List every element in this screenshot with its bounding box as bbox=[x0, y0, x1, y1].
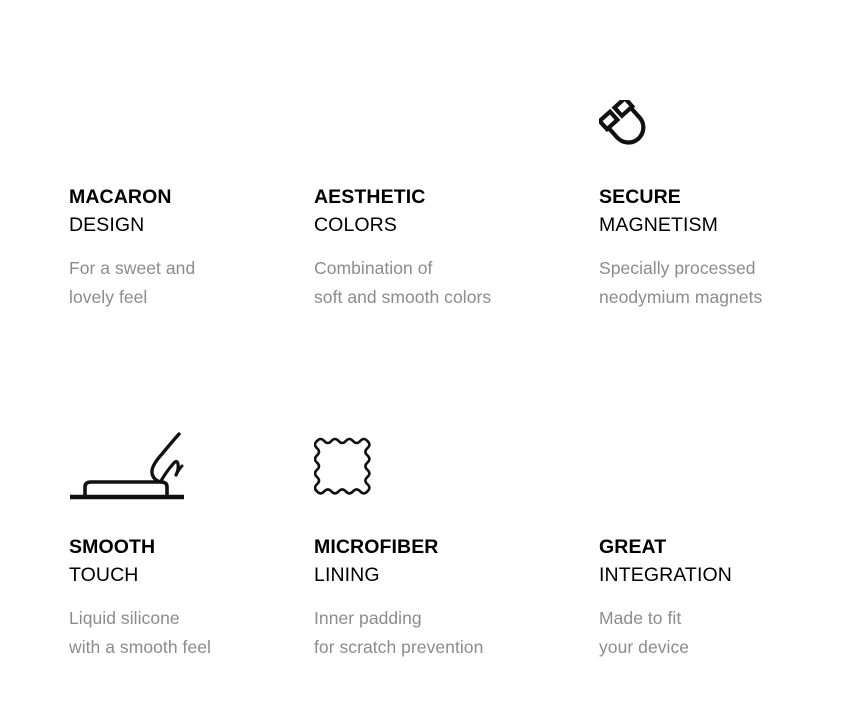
feature-icon-slot-empty bbox=[69, 40, 285, 152]
feature-description-line-1: Inner padding bbox=[314, 604, 570, 633]
feature-heading-primary: MACARON bbox=[69, 183, 285, 211]
feature-card-aesthetic-colors: AESTHETIC COLORS Combination of soft and… bbox=[285, 40, 570, 311]
feature-grid: MACARON DESIGN For a sweet and lovely fe… bbox=[0, 0, 860, 720]
feature-heading-secondary: MAGNETISM bbox=[599, 211, 855, 239]
feature-description-line-1: Liquid silicone bbox=[69, 604, 285, 633]
feature-description-line-1: Specially processed bbox=[599, 254, 855, 283]
feature-description-line-2: soft and smooth colors bbox=[314, 283, 570, 312]
feature-card-macaron-design: MACARON DESIGN For a sweet and lovely fe… bbox=[0, 40, 285, 311]
feature-description: Specially processed neodymium magnets bbox=[599, 254, 855, 311]
feature-heading-primary: SMOOTH bbox=[69, 533, 285, 561]
feature-description-line-2: for scratch prevention bbox=[314, 633, 570, 662]
feature-icon-slot bbox=[599, 40, 855, 152]
feature-card-smooth-touch: SMOOTH TOUCH Liquid silicone with a smoo… bbox=[0, 390, 285, 661]
feature-heading-secondary: LINING bbox=[314, 561, 570, 589]
feature-heading-primary: MICROFIBER bbox=[314, 533, 570, 561]
feature-heading: MACARON DESIGN bbox=[69, 183, 285, 239]
feature-row-2: SMOOTH TOUCH Liquid silicone with a smoo… bbox=[0, 390, 860, 661]
feature-heading: AESTHETIC COLORS bbox=[314, 183, 570, 239]
feature-heading-secondary: TOUCH bbox=[69, 561, 285, 589]
finger-touch-icon bbox=[69, 430, 185, 502]
feature-heading-secondary: COLORS bbox=[314, 211, 570, 239]
feature-description: Made to fit your device bbox=[599, 604, 855, 661]
feature-heading: MICROFIBER LINING bbox=[314, 533, 570, 589]
feature-description: Liquid silicone with a smooth feel bbox=[69, 604, 285, 661]
feature-heading-primary: GREAT bbox=[599, 533, 855, 561]
feature-icon-slot-empty bbox=[314, 40, 570, 152]
feature-description-line-1: For a sweet and bbox=[69, 254, 285, 283]
feature-description-line-1: Made to fit bbox=[599, 604, 855, 633]
feature-heading-primary: AESTHETIC bbox=[314, 183, 570, 211]
feature-card-great-integration: GREAT INTEGRATION Made to fit your devic… bbox=[570, 390, 855, 661]
feature-heading-primary: SECURE bbox=[599, 183, 855, 211]
feature-description-line-2: lovely feel bbox=[69, 283, 285, 312]
feature-description-line-2: your device bbox=[599, 633, 855, 662]
feature-description: Combination of soft and smooth colors bbox=[314, 254, 570, 311]
feature-icon-slot bbox=[69, 390, 285, 502]
feature-heading: SMOOTH TOUCH bbox=[69, 533, 285, 589]
feature-icon-slot-empty bbox=[599, 390, 855, 502]
feature-description: Inner padding for scratch prevention bbox=[314, 604, 570, 661]
feature-row-1: MACARON DESIGN For a sweet and lovely fe… bbox=[0, 40, 860, 311]
feature-heading: SECURE MAGNETISM bbox=[599, 183, 855, 239]
feature-heading: GREAT INTEGRATION bbox=[599, 533, 855, 589]
feature-heading-secondary: DESIGN bbox=[69, 211, 285, 239]
feature-description-line-2: neodymium magnets bbox=[599, 283, 855, 312]
magnet-icon bbox=[599, 100, 655, 152]
feature-description-line-2: with a smooth feel bbox=[69, 633, 285, 662]
feature-card-microfiber-lining: MICROFIBER LINING Inner padding for scra… bbox=[285, 390, 570, 661]
feature-icon-slot bbox=[314, 390, 570, 502]
feature-heading-secondary: INTEGRATION bbox=[599, 561, 855, 589]
fabric-swatch-icon bbox=[314, 434, 376, 502]
feature-description-line-1: Combination of bbox=[314, 254, 570, 283]
feature-description: For a sweet and lovely feel bbox=[69, 254, 285, 311]
feature-card-secure-magnetism: SECURE MAGNETISM Specially processed neo… bbox=[570, 40, 855, 311]
